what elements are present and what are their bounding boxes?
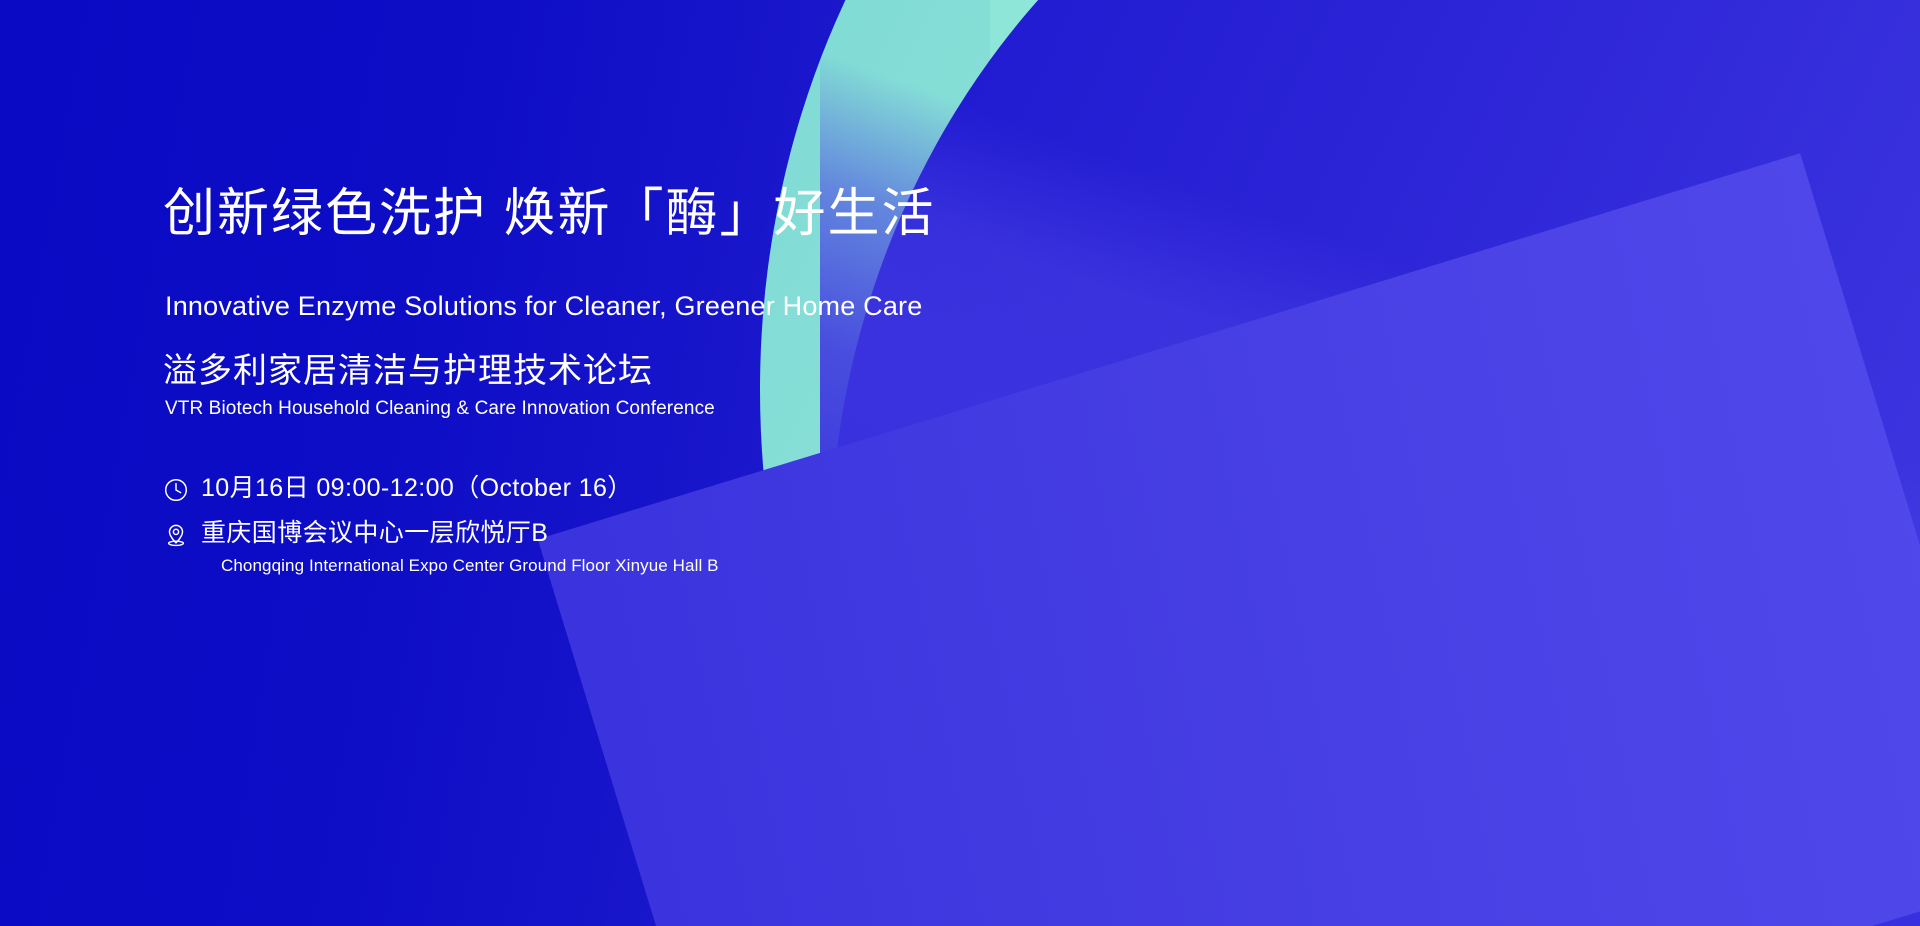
headline-english: Innovative Enzyme Solutions for Cleaner,… (165, 290, 922, 322)
event-details: 10月16日 09:00-12:00（October 16） 重庆国博会议中心一… (163, 474, 863, 593)
event-datetime-text-wrap: 10月16日 09:00-12:00（October 16） (201, 474, 633, 503)
clock-icon (163, 477, 189, 503)
conference-banner: 创新绿色洗护 焕新「酶」好生活 Innovative Enzyme Soluti… (0, 0, 1920, 926)
event-location-english: Chongqing International Expo Center Grou… (221, 555, 719, 577)
event-datetime: 10月16日 09:00-12:00（October 16） (201, 474, 633, 503)
headline-chinese: 创新绿色洗护 焕新「酶」好生活 (163, 186, 935, 242)
event-location-text-wrap: 重庆国博会议中心一层欣悦厅B Chongqing International E… (201, 519, 719, 577)
subheading-english: VTR Biotech Household Cleaning & Care In… (165, 398, 715, 420)
event-location-chinese: 重庆国博会议中心一层欣悦厅B (201, 519, 719, 548)
subheading-chinese: 溢多利家居清洁与护理技术论坛 (163, 352, 653, 391)
location-pin-icon (163, 522, 189, 548)
banner-content: 创新绿色洗护 焕新「酶」好生活 Innovative Enzyme Soluti… (163, 0, 923, 926)
event-datetime-row: 10月16日 09:00-12:00（October 16） (163, 474, 863, 503)
event-location-row: 重庆国博会议中心一层欣悦厅B Chongqing International E… (163, 519, 863, 577)
